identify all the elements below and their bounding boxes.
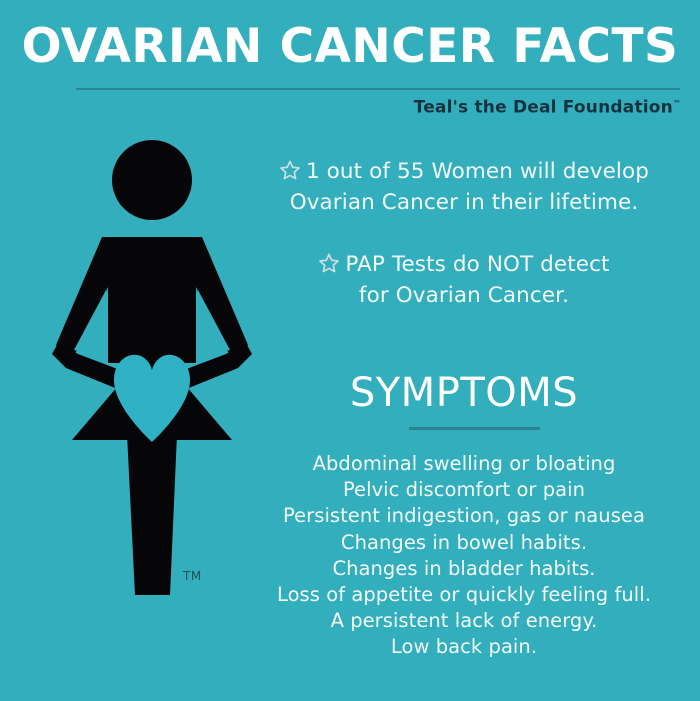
symptom-item: Abdominal swelling or bloating xyxy=(230,451,698,477)
symptom-item: A persistent lack of energy. xyxy=(230,608,698,634)
fact-line-1: PAP Tests do NOT detect xyxy=(345,252,609,277)
header-divider xyxy=(76,88,680,90)
symptoms-list: Abdominal swelling or bloating Pelvic di… xyxy=(230,451,698,661)
fact-item: 1 out of 55 Women will develop Ovarian C… xyxy=(236,156,692,218)
page-title: OVARIAN CANCER FACTS xyxy=(0,19,700,75)
trademark-symbol: ™ xyxy=(673,99,681,108)
foundation-name-text: Teal's the Deal Foundation xyxy=(414,98,673,118)
symptom-item: Changes in bladder habits. xyxy=(230,556,698,582)
symptom-item: Changes in bowel habits. xyxy=(230,530,698,556)
symptom-item: Low back pain. xyxy=(230,634,698,660)
star-outline-icon xyxy=(279,159,301,181)
star-outline-icon xyxy=(318,252,340,274)
figure-trademark: TM xyxy=(183,570,202,582)
fact-line-2: for Ovarian Cancer. xyxy=(236,280,692,311)
symptoms-divider xyxy=(409,427,540,430)
symptom-item: Persistent indigestion, gas or nausea xyxy=(230,503,698,529)
figure-head xyxy=(112,140,192,220)
symptom-item: Pelvic discomfort or pain xyxy=(230,477,698,503)
fact-line-2: Ovarian Cancer in their lifetime. xyxy=(236,187,692,218)
figure-legs xyxy=(127,434,177,595)
fact-item: PAP Tests do NOT detect for Ovarian Canc… xyxy=(236,249,692,311)
facts-list: 1 out of 55 Women will develop Ovarian C… xyxy=(236,156,692,311)
symptom-item: Loss of appetite or quickly feeling full… xyxy=(230,582,698,608)
ovarian-cancer-facts-poster: OVARIAN CANCER FACTS Teal's the Deal Fou… xyxy=(0,0,700,701)
fact-line-1: 1 out of 55 Women will develop xyxy=(306,159,649,184)
foundation-name: Teal's the Deal Foundation™ xyxy=(0,93,681,119)
symptoms-heading: SYMPTOMS xyxy=(236,369,692,417)
